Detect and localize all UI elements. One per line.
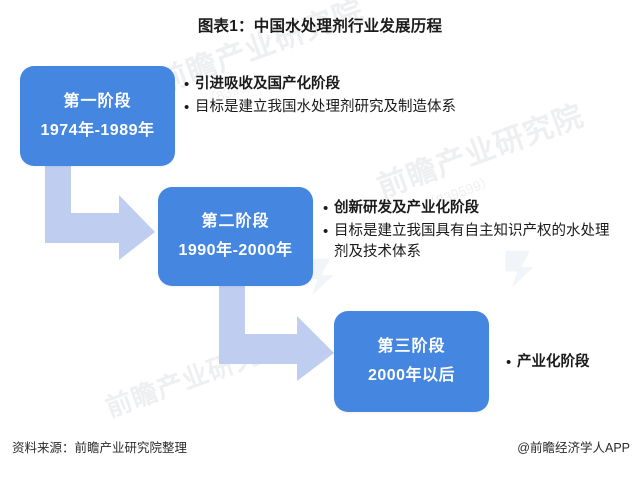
stage-1-bullet-1-text: 引进吸收及国产化阶段 <box>195 74 340 95</box>
stage-2-period: 1990年-2000年 <box>178 242 292 260</box>
list-item: • 目标是建立我国具有自主知识产权的水处理剂及技术体系 <box>323 221 623 262</box>
stage-box-1[interactable]: 第一阶段 1974年-1989年 <box>20 66 175 166</box>
stage-3-period: 2000年以后 <box>368 367 455 385</box>
stage-1-bullets: • 引进吸收及国产化阶段 • 目标是建立我国水处理剂研究及制造体系 <box>184 74 484 121</box>
list-item: • 引进吸收及国产化阶段 <box>184 74 484 95</box>
list-item: • 目标是建立我国水处理剂研究及制造体系 <box>184 97 484 118</box>
footer-source-text: 资料来源：前瞻产业研究院整理 <box>12 437 187 456</box>
list-item: • 创新研发及产业化阶段 <box>323 198 623 219</box>
elbow-arrow-stage2-to-stage3 <box>219 276 334 381</box>
list-item: • 产业化阶段 <box>506 352 636 373</box>
stage-3-bullet-1-text: 产业化阶段 <box>517 352 590 373</box>
bullet-marker-icon: • <box>184 97 195 118</box>
bullet-marker-icon: • <box>506 352 517 373</box>
stage-2-name: 第二阶段 <box>201 213 269 231</box>
stage-box-2[interactable]: 第二阶段 1990年-2000年 <box>158 187 313 286</box>
bullet-marker-icon: • <box>323 198 334 219</box>
stage-2-bullets: • 创新研发及产业化阶段 • 目标是建立我国具有自主知识产权的水处理剂及技术体系 <box>323 198 623 264</box>
stage-box-3[interactable]: 第三阶段 2000年以后 <box>334 311 489 412</box>
elbow-arrow-stage1-to-stage2 <box>45 155 155 260</box>
stage-1-bullet-2-text: 目标是建立我国水处理剂研究及制造体系 <box>195 97 456 118</box>
bullet-marker-icon: • <box>184 74 195 95</box>
stage-2-bullet-1-text: 创新研发及产业化阶段 <box>334 198 479 219</box>
footer: 资料来源：前瞻产业研究院整理 @前瞻经济学人APP <box>0 437 640 455</box>
stage-1-period: 1974年-1989年 <box>40 122 154 140</box>
footer-brand-text: @前瞻经济学人APP <box>517 437 630 456</box>
chart-title: 图表1：中国水处理剂行业发展历程 <box>0 14 640 36</box>
bullet-marker-icon: • <box>323 221 334 242</box>
stage-2-bullet-2-text: 目标是建立我国具有自主知识产权的水处理剂及技术体系 <box>334 221 623 262</box>
stage-3-name: 第三阶段 <box>377 338 445 356</box>
stage-3-bullets: • 产业化阶段 <box>506 352 636 375</box>
stage-1-name: 第一阶段 <box>63 93 131 111</box>
